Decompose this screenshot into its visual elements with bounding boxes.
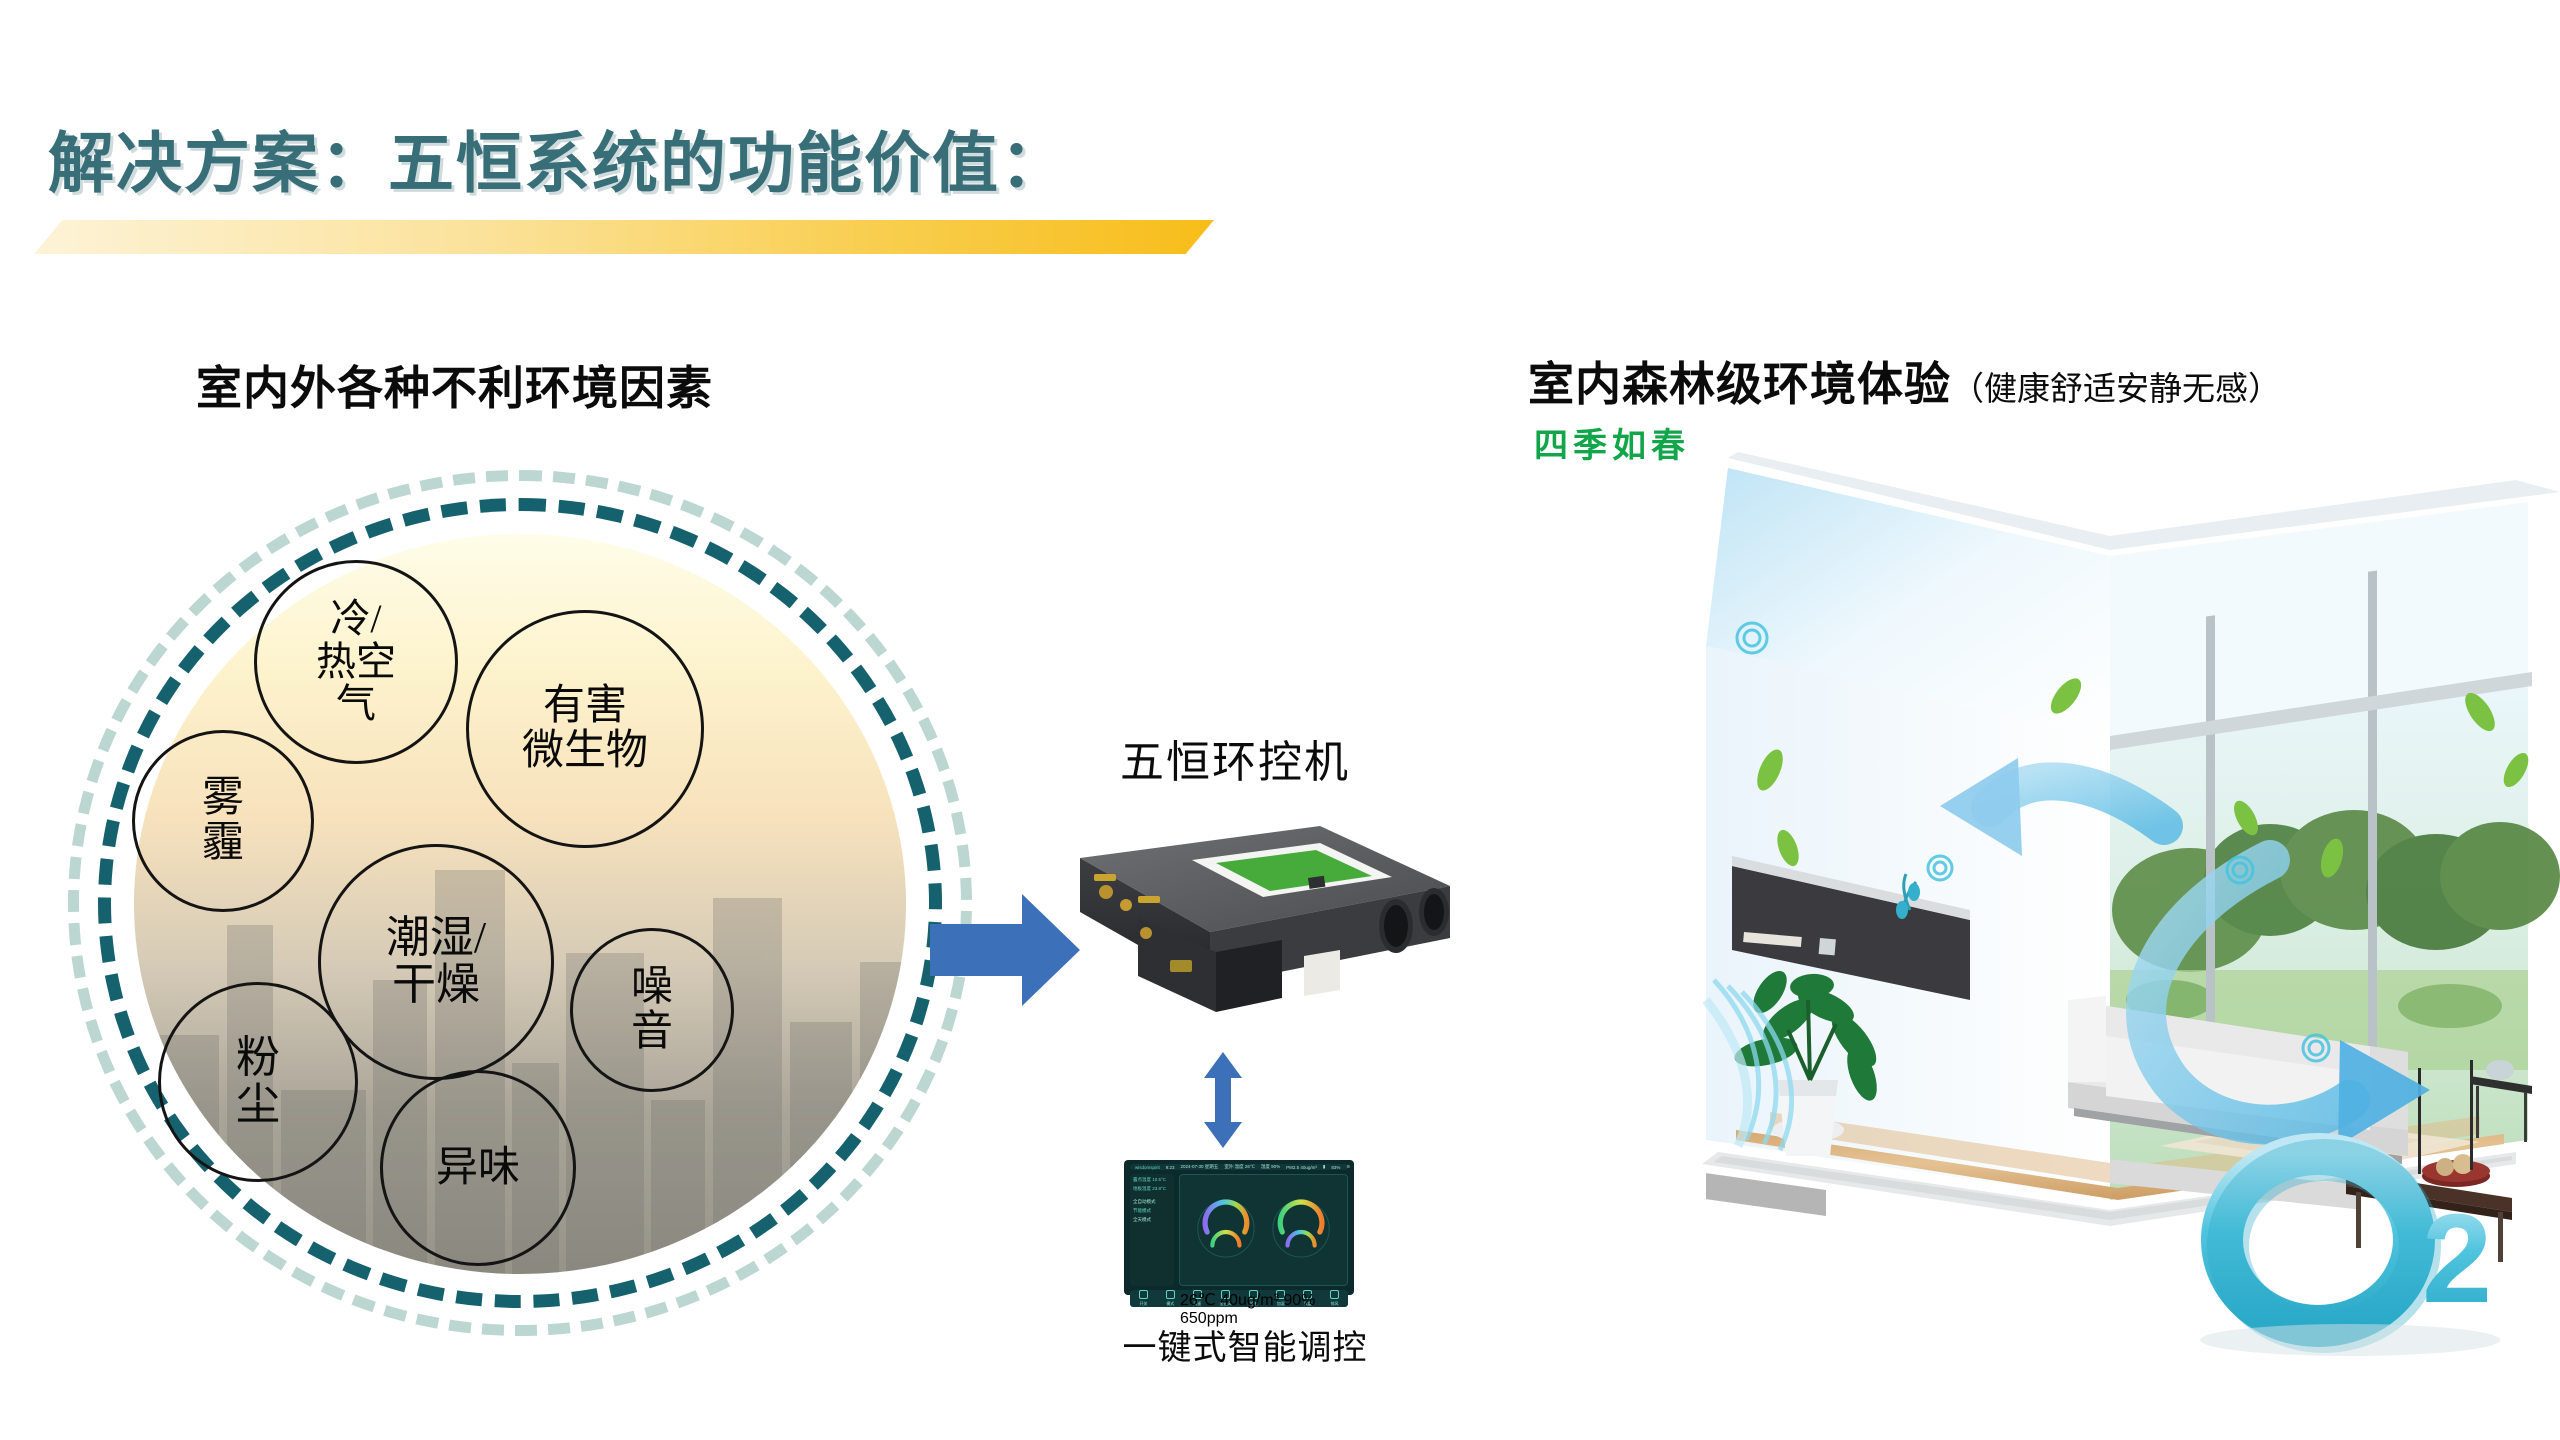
panel-battery-level: 83% (1331, 1165, 1340, 1170)
panel-gauge-area: 26℃ 40ug/m³ 90% 650ppm (1179, 1174, 1348, 1286)
panel-button-label: 开关 (1139, 1301, 1147, 1307)
panel-status-bar: wisdomspirit 9:23 2024-07-30 星期五 室外:温度 2… (1130, 1164, 1348, 1170)
bubble-label: 雾 霾 (202, 776, 244, 865)
vertical-double-arrow-icon (1200, 1052, 1246, 1148)
bubble-odor: 异味 (380, 1070, 576, 1266)
right-heading-sub: （健康舒适安静无感） (1951, 370, 2281, 407)
gauge-humidity-value: 90% (1283, 1292, 1315, 1309)
bubble-label: 噪 音 (631, 965, 673, 1054)
right-heading-main: 室内森林级环境体验 (1528, 358, 1951, 410)
svg-text:2: 2 (2422, 1188, 2492, 1329)
wifi-icon: ≋ (1346, 1164, 1350, 1170)
panel-button-label: 模式 (1166, 1301, 1174, 1307)
panel-mode-auto[interactable]: 全自动模式 (1133, 1199, 1171, 1205)
right-section-heading: 室内森林级环境体验（健康舒适安静无感） (1528, 348, 2281, 414)
bubble-label: 有害 微生物 (522, 684, 648, 773)
hvac-unit-illustration (1020, 800, 1450, 1030)
panel-date: 2024-07-30 星期五 (1181, 1164, 1219, 1170)
battery-icon: ▮ (1323, 1164, 1325, 1170)
panel-brand: wisdomspirit (1135, 1165, 1160, 1170)
panel-mode-allday[interactable]: 全天模式 (1133, 1217, 1171, 1223)
bubble-label: 潮湿/ 干燥 (386, 915, 486, 1008)
panel-button-exhaust[interactable]: 排风 (1330, 1290, 1339, 1307)
panel-outdoor-temp: 室外:温度 26℃ (1224, 1164, 1255, 1170)
bubble-smog: 雾 霾 (132, 730, 314, 912)
bubble-dust: 粉 尘 (158, 982, 358, 1182)
panel-button-power[interactable]: 开关 (1139, 1290, 1148, 1307)
panel-button-mode[interactable]: 模式 (1166, 1290, 1175, 1307)
control-panel-caption: 一键式智能调控 (1120, 1320, 1370, 1369)
gauge-pm25-value: 40ug/m³ (1220, 1292, 1279, 1309)
panel-outdoor-pm25: PM2.5 40ug/m³ (1286, 1165, 1317, 1170)
bubble-noise: 噪 音 (570, 928, 734, 1092)
slide-root: 解决方案：五恒系统的功能价值： 室内外各种不利环境因素 冷/ 热空 (0, 0, 2560, 1440)
bubble-cold-hot-air: 冷/ 热空 气 (254, 560, 458, 764)
bubble-label: 冷/ 热空 气 (316, 598, 396, 725)
panel-mode-eco[interactable]: 节能模式 (1133, 1208, 1171, 1214)
interior-room-illustration: 2 (1470, 440, 2560, 1360)
bubble-label: 粉 尘 (236, 1035, 280, 1128)
title-underline-decoration (34, 220, 1214, 254)
panel-side-column: 露点温度 10.5°C 地板温度 23.8°C 全自动模式 节能模式 全天模式 (1130, 1174, 1174, 1286)
panel-dewpoint: 露点温度 10.5°C (1133, 1177, 1171, 1183)
panel-button-label: 排风 (1331, 1301, 1339, 1307)
bubble-harmful-microbes: 有害 微生物 (466, 610, 704, 848)
panel-time: 9:23 (1166, 1165, 1175, 1170)
gauge-temp-value: 26℃ (1180, 1292, 1216, 1309)
panel-outdoor-humidity: 湿度 90% (1261, 1164, 1280, 1170)
bubble-label: 异味 (436, 1146, 520, 1191)
left-section-heading: 室内外各种不利环境因素 (196, 352, 713, 418)
panel-floor-temp: 地板温度 23.8°C (1133, 1186, 1171, 1192)
bubble-humid-dry: 潮湿/ 干燥 (318, 844, 554, 1080)
control-panel-screen[interactable]: wisdomspirit 9:23 2024-07-30 星期五 室外:温度 2… (1124, 1160, 1354, 1295)
page-title: 解决方案：五恒系统的功能价值： (48, 110, 1068, 206)
device-label: 五恒环控机 (1120, 726, 1350, 790)
title-block: 解决方案：五恒系统的功能价值： (0, 110, 2000, 280)
environment-factors-diagram: 冷/ 热空 气 有害 微生物 雾 霾 潮湿/ 干燥 噪 音 粉 尘 异味 (60, 462, 980, 1342)
